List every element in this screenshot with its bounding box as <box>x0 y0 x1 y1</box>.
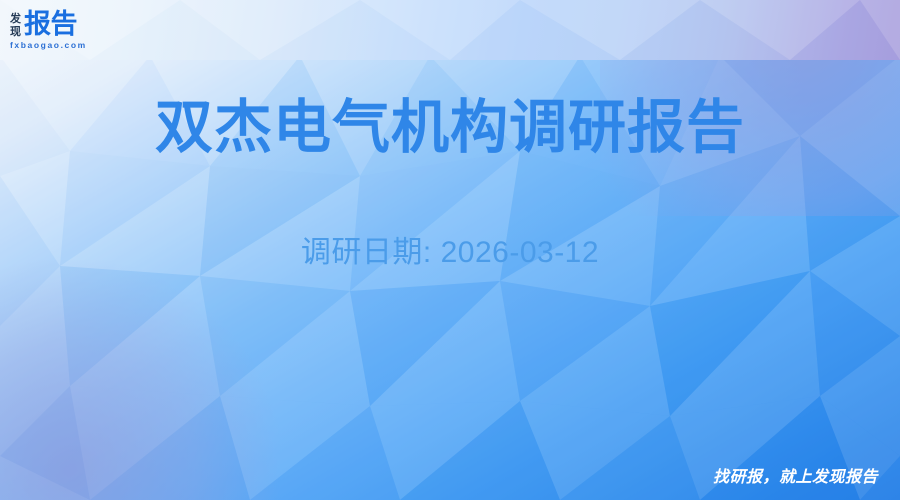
polygon-facets-svg <box>0 56 900 500</box>
footer-slogan: 找研报，就上发现报告 <box>713 463 878 487</box>
brand-logo[interactable]: 发 现 报告 fxbaogao.com <box>10 11 87 50</box>
logo-domain-text: fxbaogao.com <box>10 41 87 50</box>
logo-char-fa: 发 <box>10 13 21 25</box>
report-cover-page: 发 现 报告 fxbaogao.com 双杰电气机构调研报告 调研日期: 202… <box>0 0 900 500</box>
header-strip <box>0 0 900 60</box>
logo-char-xian: 现 <box>10 26 21 38</box>
logo-stacked-characters: 发 现 <box>10 12 21 38</box>
logo-wordmark: 报告 <box>24 11 77 38</box>
logo-wordmark-row: 发 现 报告 <box>10 11 77 38</box>
header-facets-svg <box>0 0 900 60</box>
polygon-background <box>0 56 900 500</box>
